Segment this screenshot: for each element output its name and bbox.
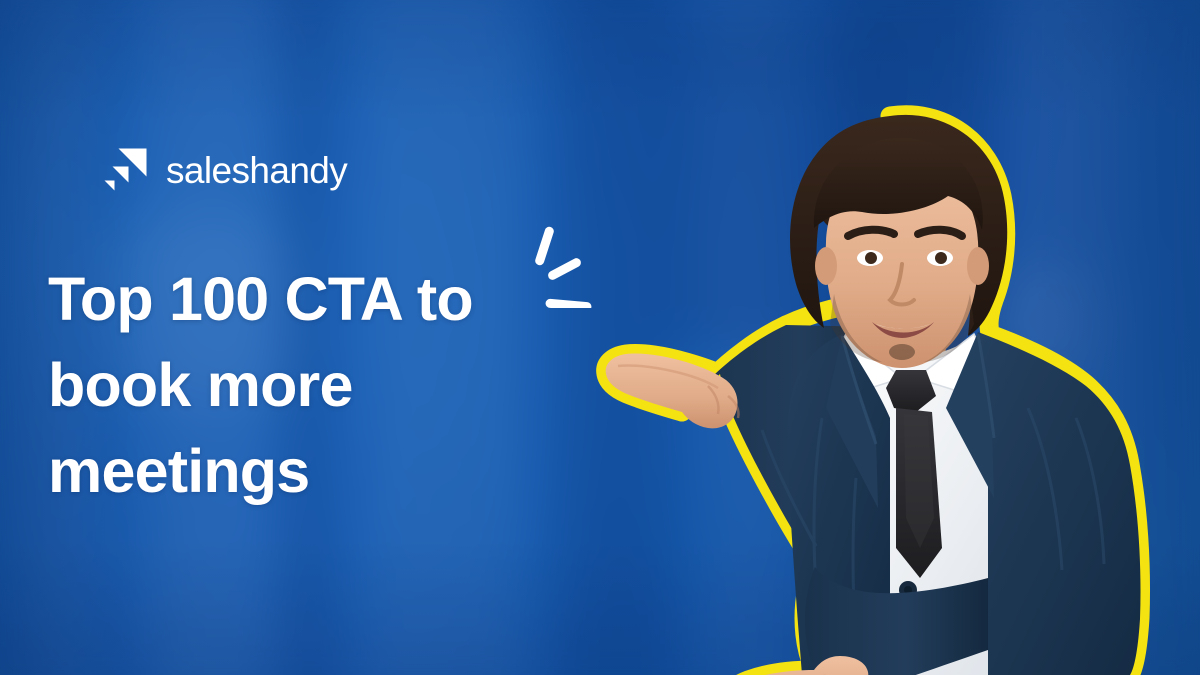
promo-banner: saleshandy Top 100 CTA to book more meet… xyxy=(0,0,1200,675)
page-title: Top 100 CTA to book more meetings xyxy=(48,256,608,514)
presenter-photo xyxy=(590,78,1170,675)
saleshandy-logo[interactable]: saleshandy xyxy=(103,143,347,195)
logo-wordmark: saleshandy xyxy=(166,152,347,189)
pupil xyxy=(865,252,877,264)
pupil xyxy=(935,252,947,264)
headline-line-1: Top 100 CTA to xyxy=(48,256,608,342)
headline-line-3: meetings xyxy=(48,428,608,514)
saleshandy-arrow-mark-icon xyxy=(103,146,149,192)
ear xyxy=(967,247,989,285)
headline-line-2: book more xyxy=(48,342,608,428)
presenter-jacket-right xyxy=(978,332,1141,675)
ear xyxy=(815,247,837,285)
chin-stubble xyxy=(889,344,915,360)
